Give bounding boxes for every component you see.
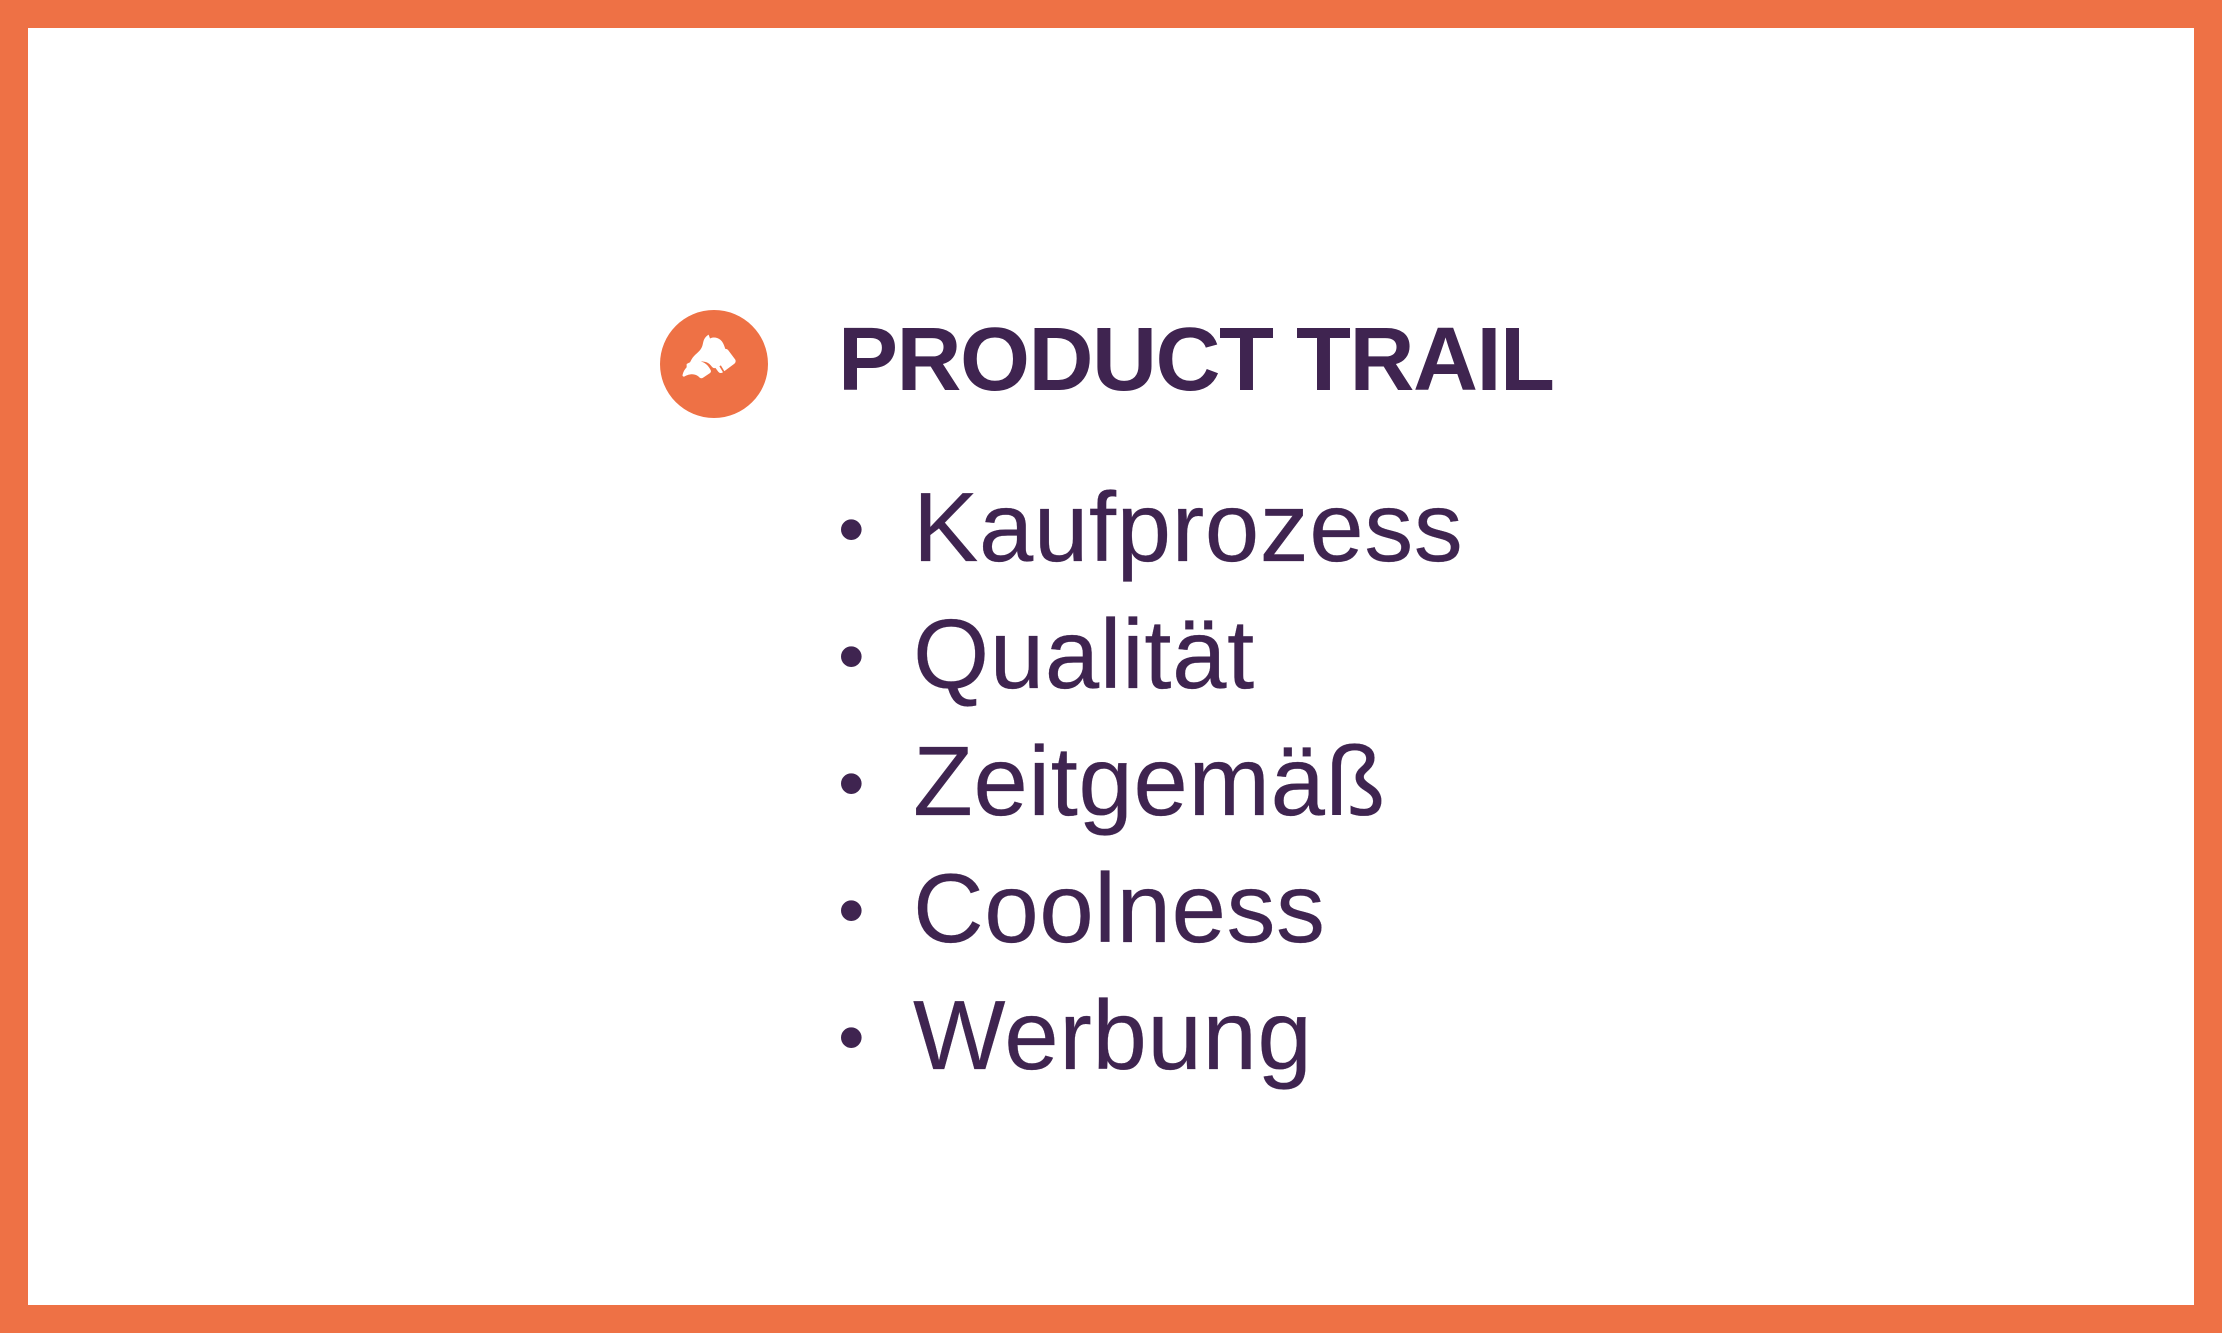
heading-row: PRODUCT TRAIL — [660, 310, 1960, 420]
bullet-marker-icon: • — [838, 873, 913, 949]
list-item: • Coolness — [838, 859, 1960, 986]
bullet-marker-icon: • — [838, 746, 913, 822]
list-item: • Zeitgemäß — [838, 732, 1960, 859]
bullet-label: Kaufprozess — [913, 478, 1463, 576]
list-item: • Qualität — [838, 605, 1960, 732]
bullet-label: Zeitgemäß — [913, 732, 1386, 830]
bullet-marker-icon: • — [838, 1000, 913, 1076]
feature-bullet-list: • Kaufprozess • Qualität • Zeitgemäß • C… — [838, 478, 1960, 1113]
bullet-marker-icon: • — [838, 619, 913, 695]
list-item: • Kaufprozess — [838, 478, 1960, 605]
bullet-label: Werbung — [913, 986, 1312, 1084]
bullet-marker-icon: • — [838, 492, 913, 568]
hand-holding-card-icon — [660, 310, 768, 418]
page-title: PRODUCT TRAIL — [838, 314, 1553, 406]
content-block: PRODUCT TRAIL • Kaufprozess • Qualität •… — [660, 310, 1960, 1113]
bullet-label: Qualität — [913, 605, 1255, 703]
bullet-label: Coolness — [913, 859, 1326, 957]
slide-canvas: PRODUCT TRAIL • Kaufprozess • Qualität •… — [28, 28, 2194, 1305]
slide-frame: PRODUCT TRAIL • Kaufprozess • Qualität •… — [0, 0, 2222, 1333]
list-item: • Werbung — [838, 986, 1960, 1113]
